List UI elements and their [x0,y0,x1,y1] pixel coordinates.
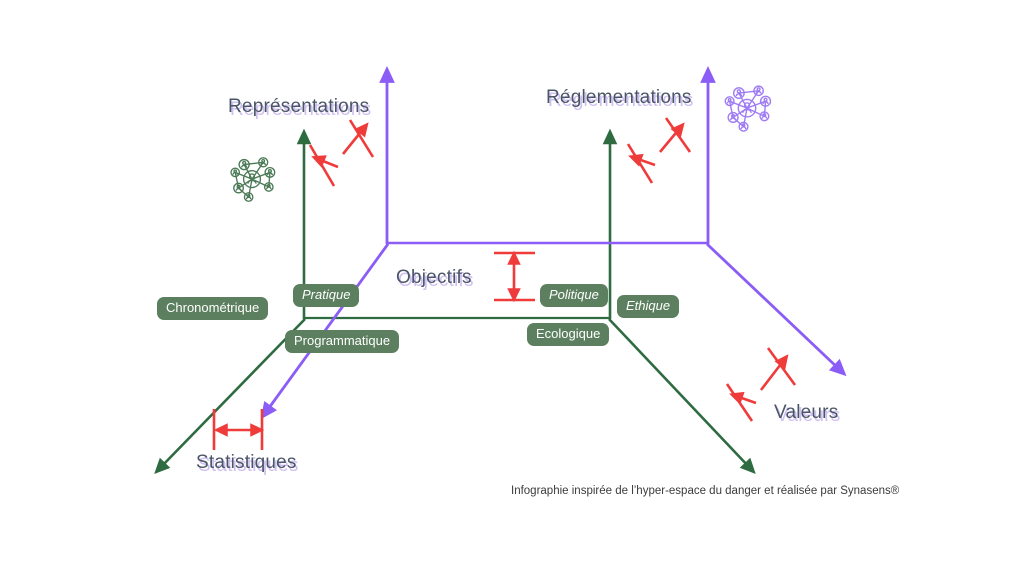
infographic-canvas: Représentations Réglementations Objectif… [0,0,1024,576]
measure-arrow-out [343,128,364,154]
axis-valeurs-purple [707,244,840,370]
badge-ethique[interactable]: Ethique [617,295,679,318]
measure-arrow-out [761,360,784,390]
badge-chronometrique[interactable]: Chronométrique [157,297,268,320]
measure-arrow-out [660,128,680,152]
network-people-icon [231,158,275,201]
badge-ecologique[interactable]: Ecologique [527,323,609,346]
measure-tick-right [666,118,690,152]
badge-politique[interactable]: Politique [540,284,608,307]
axis-statistiques-green [160,319,305,468]
measure-tick-left [727,384,752,421]
axis-valeurs-green [609,319,750,468]
axis-statistiques-purple [266,244,388,412]
source-caption: Infographie inspirée de l’hyper-espace d… [511,485,899,497]
measure-tick-right [768,348,795,385]
measure-statistiques [214,409,262,450]
axis-title-objectifs: Objectifs [396,267,472,289]
measure-tick-right [350,120,373,157]
measure-representations [310,120,373,186]
network-people-icon [725,86,770,131]
measure-tick-left [310,145,334,186]
axis-title-statistiques: Statistiques [196,452,297,474]
measure-reglementations [628,118,690,183]
badge-pratique[interactable]: Pratique [293,284,359,307]
measure-objectifs [494,253,535,300]
axis-title-representations: Représentations [228,96,369,118]
badge-programmatique[interactable]: Programmatique [285,330,399,353]
axis-title-valeurs: Valeurs [774,402,838,424]
axis-title-reglementations: Réglementations [546,87,692,109]
